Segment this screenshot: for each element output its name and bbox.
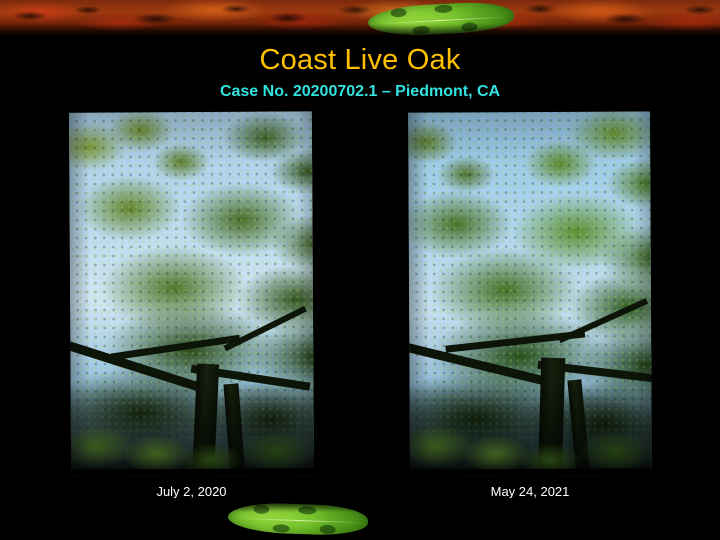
page-title: Coast Live Oak [0,43,720,77]
band-fade [0,498,720,512]
slide: Coast Live Oak Case No. 20200702.1 – Pie… [0,0,720,540]
after-photo[interactable] [408,111,652,476]
leaf-lobe [391,8,407,18]
bottom-leaf-border [0,498,720,540]
leaf-lobe [434,5,452,14]
photo-edge [410,468,652,476]
band-fade [0,24,720,40]
before-photo[interactable] [69,111,314,476]
leaf-vein [239,518,357,524]
photo-edge [71,468,314,476]
case-subtitle: Case No. 20200702.1 – Piedmont, CA [0,82,720,102]
leaf-lobe [320,525,336,535]
top-leaf-border [0,0,720,40]
leaf-lobe [272,524,289,533]
photo-vignette [408,111,652,476]
photo-vignette [69,111,314,476]
